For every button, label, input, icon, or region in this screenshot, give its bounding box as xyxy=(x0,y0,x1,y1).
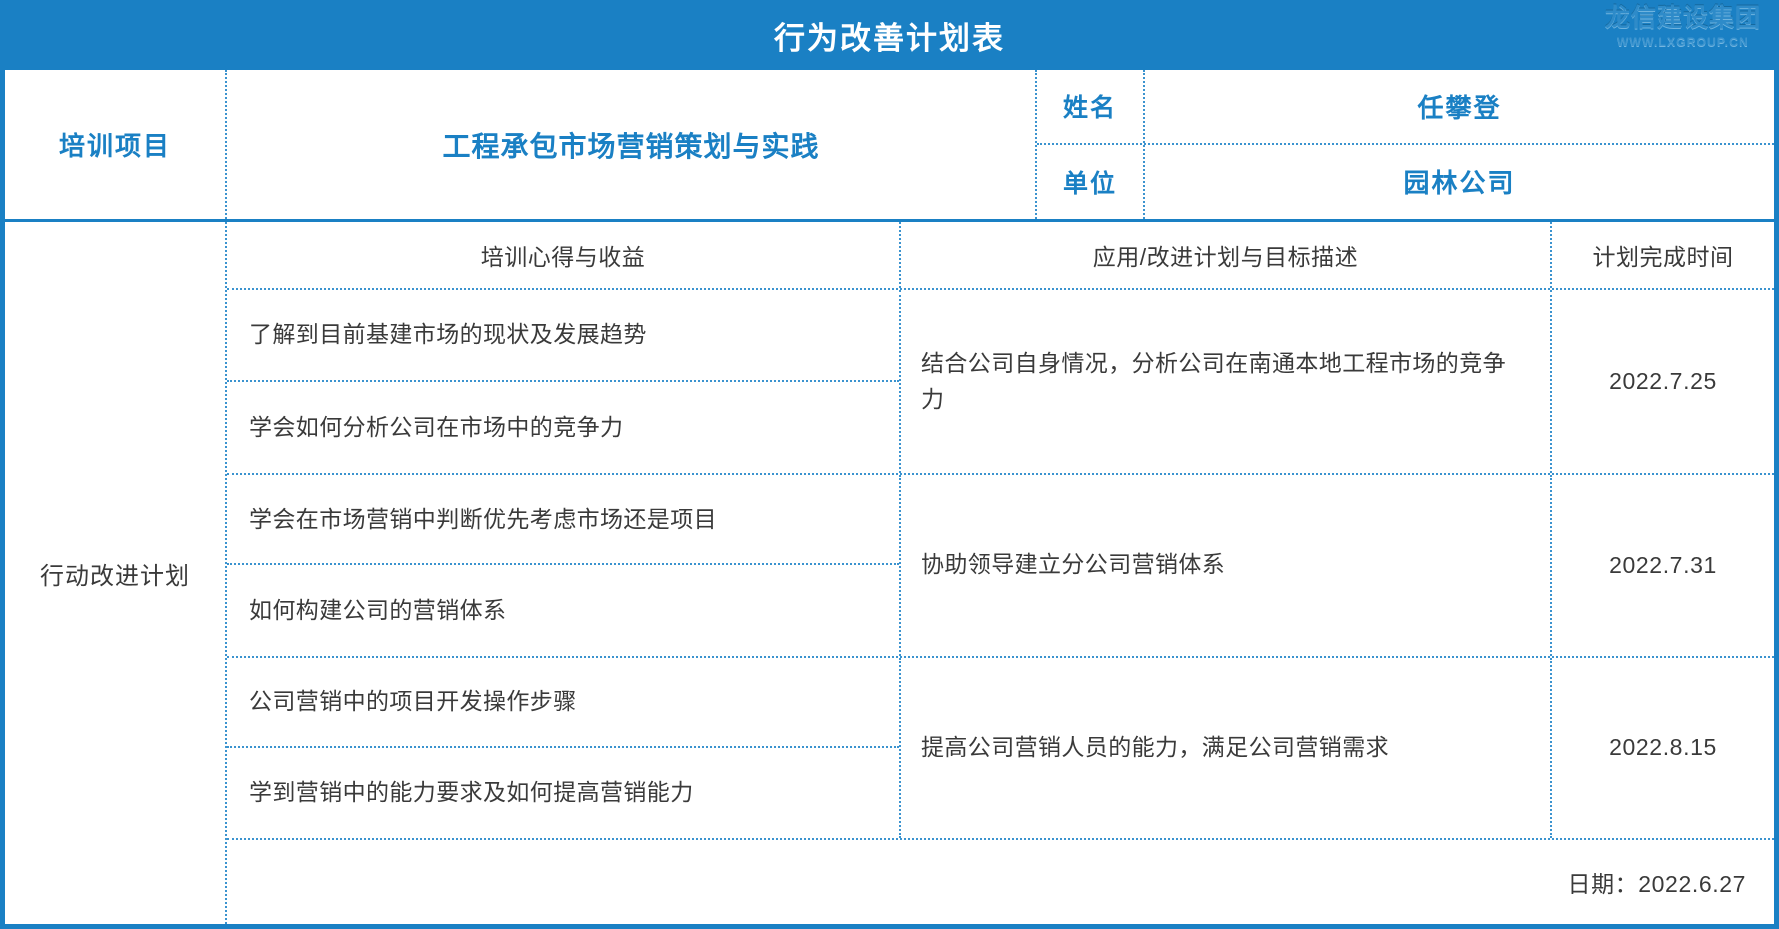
plan-cell: 提高公司营销人员的能力，满足公司营销需求 xyxy=(901,658,1552,838)
unit-label: 单位 xyxy=(1037,145,1145,220)
date-cell: 2022.7.25 xyxy=(1552,290,1774,473)
title-bar: 行为改善计划表 龙信建设集团 WWW.LXGROUP.CN xyxy=(0,0,1779,70)
name-value: 任攀登 xyxy=(1145,70,1774,143)
insight-cell-group: 学会在市场营销中判断优先考虑市场还是项目 如何构建公司的营销体系 xyxy=(227,475,901,655)
logo-company-name: 龙信建设集团 xyxy=(1605,4,1761,33)
insight-cell-group: 了解到目前基建市场的现状及发展趋势 学会如何分析公司在市场中的竞争力 xyxy=(227,290,901,473)
column-header-plan: 应用/改进计划与目标描述 xyxy=(901,222,1552,288)
table-frame: 培训项目 工程承包市场营销策划与实践 姓名 任攀登 单位 园林公司 行动改进计划… xyxy=(0,70,1779,929)
insight-cell-group: 公司营销中的项目开发操作步骤 学到营销中的能力要求及如何提高营销能力 xyxy=(227,658,901,838)
insight-item: 学会如何分析公司在市场中的竞争力 xyxy=(227,382,899,474)
plan-cell: 结合公司自身情况，分析公司在南通本地工程市场的竞争力 xyxy=(901,290,1552,473)
date-cell: 2022.7.31 xyxy=(1552,475,1774,655)
logo-website-url: WWW.LXGROUP.CN xyxy=(1605,35,1761,49)
insight-item: 如何构建公司的营销体系 xyxy=(227,565,899,655)
insight-item: 了解到目前基建市场的现状及发展趋势 xyxy=(227,290,899,382)
plan-cell: 协助领导建立分公司营销体系 xyxy=(901,475,1552,655)
insight-item: 学到营销中的能力要求及如何提高营销能力 xyxy=(227,748,899,838)
date-cell: 2022.8.15 xyxy=(1552,658,1774,838)
unit-row: 单位 园林公司 xyxy=(1037,145,1774,220)
column-header-row: 培训心得与收益 应用/改进计划与目标描述 计划完成时间 xyxy=(227,222,1774,290)
program-value: 工程承包市场营销策划与实践 xyxy=(227,70,1037,219)
name-row: 姓名 任攀登 xyxy=(1037,70,1774,145)
table-body: 行动改进计划 培训心得与收益 应用/改进计划与目标描述 计划完成时间 了解到目前… xyxy=(5,222,1774,924)
table-grid: 培训心得与收益 应用/改进计划与目标描述 计划完成时间 了解到目前基建市场的现状… xyxy=(227,222,1774,924)
column-header-insight: 培训心得与收益 xyxy=(227,222,901,288)
section-label-action-improvement-plan: 行动改进计划 xyxy=(5,222,227,924)
footer-date: 日期：2022.6.27 xyxy=(227,840,1774,924)
behavior-improvement-plan-page: 行为改善计划表 龙信建设集团 WWW.LXGROUP.CN 培训项目 工程承包市… xyxy=(0,0,1779,929)
info-header: 培训项目 工程承包市场营销策划与实践 姓名 任攀登 单位 园林公司 xyxy=(5,70,1774,222)
column-header-date: 计划完成时间 xyxy=(1552,222,1774,288)
table-row: 学会在市场营销中判断优先考虑市场还是项目 如何构建公司的营销体系 协助领导建立分… xyxy=(227,475,1774,657)
unit-value: 园林公司 xyxy=(1145,145,1774,220)
program-label: 培训项目 xyxy=(5,70,227,219)
person-info-block: 姓名 任攀登 单位 园林公司 xyxy=(1037,70,1774,219)
insight-item: 公司营销中的项目开发操作步骤 xyxy=(227,658,899,748)
page-title: 行为改善计划表 xyxy=(774,13,1005,58)
company-logo: 龙信建设集团 WWW.LXGROUP.CN xyxy=(1605,4,1761,49)
table-row: 公司营销中的项目开发操作步骤 学到营销中的能力要求及如何提高营销能力 提高公司营… xyxy=(227,658,1774,840)
name-label: 姓名 xyxy=(1037,70,1145,143)
insight-item: 学会在市场营销中判断优先考虑市场还是项目 xyxy=(227,475,899,565)
table-row: 了解到目前基建市场的现状及发展趋势 学会如何分析公司在市场中的竞争力 结合公司自… xyxy=(227,290,1774,475)
